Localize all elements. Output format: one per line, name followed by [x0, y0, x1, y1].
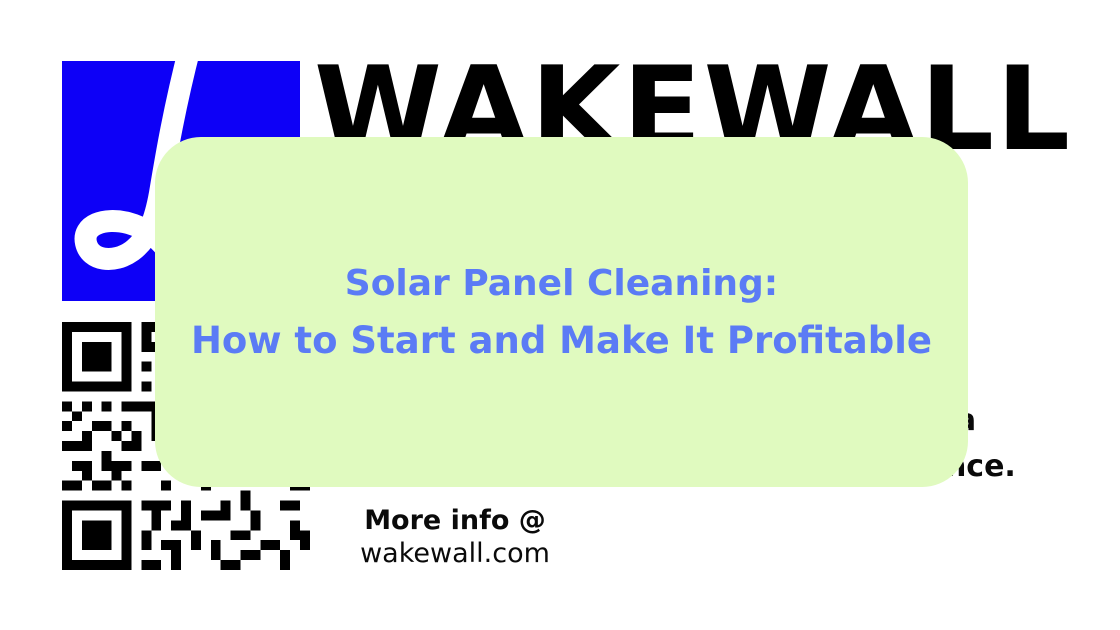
more-info-caption: More info @ wakewall.com: [330, 504, 580, 571]
article-title: Solar Panel Cleaning: How to Start and M…: [155, 255, 968, 369]
article-title-card[interactable]: Solar Panel Cleaning: How to Start and M…: [155, 137, 968, 487]
article-title-line-2: How to Start and Make It Profitable: [181, 312, 942, 369]
website-url[interactable]: wakewall.com: [330, 537, 580, 571]
more-info-label: More info @: [330, 504, 580, 537]
promo-graphic-canvas: WAKEWALL n ces, business listings, and a…: [0, 0, 1120, 630]
article-title-line-1: Solar Panel Cleaning:: [181, 255, 942, 312]
